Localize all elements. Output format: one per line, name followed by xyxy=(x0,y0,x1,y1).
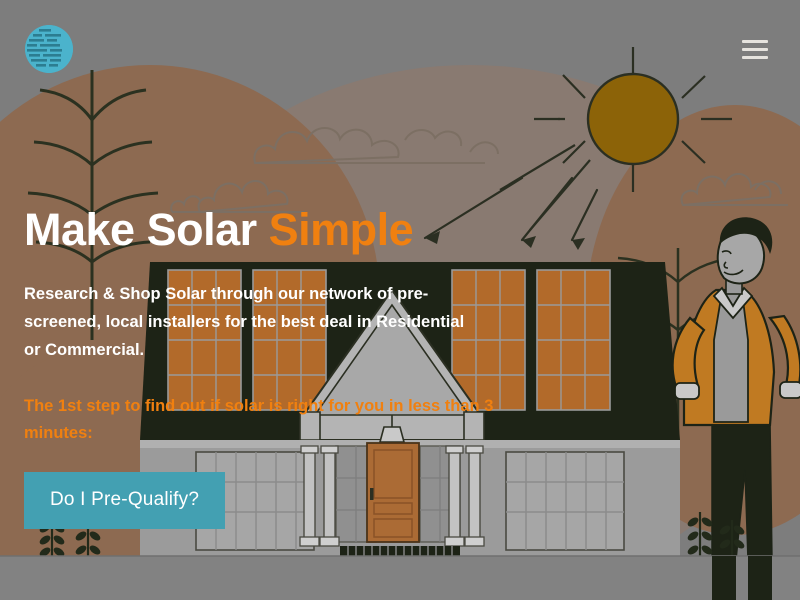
striped-circle-logo-icon xyxy=(25,25,73,73)
hero-description: Research & Shop Solar through our networ… xyxy=(24,280,476,365)
pre-qualify-button[interactable]: Do I Pre-Qualify? xyxy=(24,472,225,529)
hero-page: Make Solar Simple Research & Shop Solar … xyxy=(0,0,800,600)
page-title: Make Solar Simple xyxy=(24,206,524,254)
hamburger-menu-button[interactable] xyxy=(742,36,772,62)
hamburger-bar-top xyxy=(742,40,768,43)
hero-content: Make Solar Simple Research & Shop Solar … xyxy=(0,0,800,600)
page-title-accent: Simple xyxy=(269,204,414,255)
page-title-main: Make Solar xyxy=(24,204,269,255)
site-logo[interactable] xyxy=(25,25,73,73)
hamburger-bar-bottom xyxy=(742,56,768,59)
hamburger-bar-middle xyxy=(742,48,768,51)
hero-text-block: Make Solar Simple Research & Shop Solar … xyxy=(24,206,524,529)
hero-prompt: The 1st step to find out if solar is rig… xyxy=(24,393,494,446)
